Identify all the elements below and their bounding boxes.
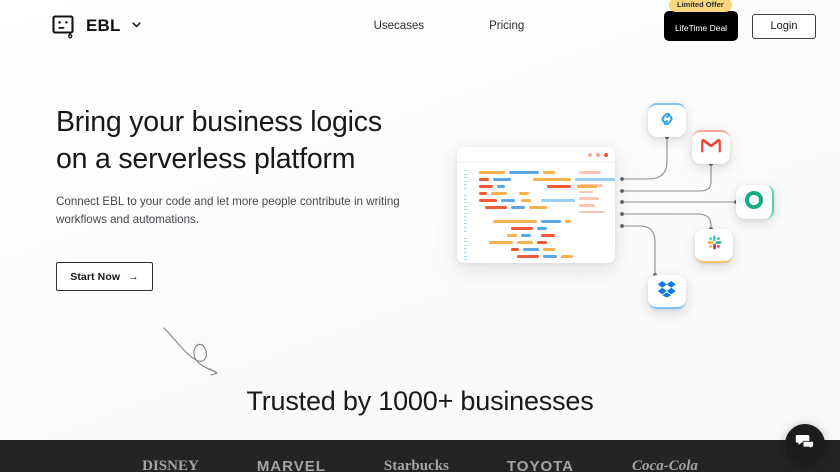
code-line-bar: [511, 248, 519, 251]
code-line-bar: [521, 199, 531, 202]
hero-subtitle: Connect EBL to your code and let more pe…: [56, 193, 406, 229]
code-line-bar: [541, 199, 575, 202]
gutter-tick: [464, 216, 467, 217]
side-panel-bar: [579, 171, 601, 174]
shazam-icon: [657, 109, 677, 134]
code-line-bar: [491, 192, 507, 195]
hero-section: Bring your business logics on a serverle…: [56, 104, 456, 291]
code-line-bar: [497, 185, 505, 188]
page-title: Bring your business logics on a serverle…: [56, 104, 456, 178]
gutter-tick: [464, 231, 467, 232]
green-ring-icon: [744, 190, 764, 215]
main-navigation: Usecases Pricing: [364, 14, 535, 38]
gutter-tick: [464, 209, 467, 210]
start-now-label: Start Now: [70, 271, 120, 283]
code-line-bar: [577, 185, 597, 188]
code-line-bar: [485, 206, 507, 209]
client-logo: Coca-Cola: [632, 458, 698, 472]
integration-dropbox[interactable]: [648, 275, 686, 309]
chevron-down-icon[interactable]: [131, 18, 142, 34]
gutter-tick: [464, 191, 467, 192]
code-line-bar: [479, 171, 505, 174]
code-line-bar: [501, 199, 515, 202]
window-dot-2: [596, 153, 600, 157]
gutter-tick: [464, 227, 467, 228]
gutter-tick: [464, 195, 467, 196]
code-line-bar: [519, 192, 529, 195]
brand-name: EBL: [86, 16, 121, 36]
start-now-button[interactable]: Start Now →: [56, 262, 153, 291]
social-proof-heading: Trusted by 1000+ businesses: [0, 386, 840, 417]
gutter-tick: [464, 220, 467, 221]
lifetime-deal-button[interactable]: LifeTime Deal: [664, 11, 738, 41]
side-panel-bar: [579, 197, 599, 200]
code-line-bar: [511, 206, 525, 209]
code-line-bar: [517, 255, 539, 258]
gutter-tick: [464, 177, 467, 178]
code-line-bar: [493, 178, 511, 181]
code-line-bar: [561, 255, 573, 258]
arrow-right-icon: →: [128, 271, 139, 283]
code-line-bar: [537, 241, 547, 244]
window-dot-1: [588, 153, 592, 157]
gutter-tick: [464, 252, 467, 253]
gutter-tick: [464, 256, 467, 257]
code-lines-area: [471, 169, 575, 263]
code-line-bar: [575, 178, 615, 181]
code-line-bar: [489, 241, 513, 244]
chat-widget-button[interactable]: [785, 424, 825, 464]
code-line-bar: [565, 220, 571, 223]
code-line-bar: [509, 171, 539, 174]
code-line-bar: [541, 220, 561, 223]
code-line-bar: [479, 185, 493, 188]
code-line-bar: [543, 171, 555, 174]
gutter-tick: [464, 238, 467, 239]
line-number-gutter: [464, 169, 467, 263]
gutter-tick: [464, 202, 467, 203]
code-line-bar: [479, 199, 497, 202]
limited-offer-badge: Limited Offer: [669, 0, 732, 12]
slack-icon: [705, 233, 724, 257]
gutter-tick: [464, 206, 467, 207]
side-panel-bar: [579, 191, 593, 194]
gmail-icon: [701, 138, 721, 159]
client-logo: Starbucks: [384, 458, 449, 472]
decorative-arrow-doodle: [160, 322, 226, 378]
code-line-bar: [547, 185, 571, 188]
client-logo: DISNEY: [142, 458, 199, 472]
code-line-bar: [533, 178, 571, 181]
dropbox-icon: [657, 280, 677, 303]
integration-slack[interactable]: [695, 229, 733, 263]
gutter-tick: [464, 188, 467, 189]
code-line-bar: [479, 178, 489, 181]
nav-item-pricing[interactable]: Pricing: [479, 14, 534, 38]
gutter-tick: [464, 248, 467, 249]
gutter-tick: [464, 181, 467, 182]
mockup-titlebar: [457, 147, 615, 163]
side-panel-bar: [579, 211, 605, 214]
code-line-bar: [521, 234, 531, 237]
side-panel-bar: [579, 204, 595, 207]
code-line-bar: [543, 248, 555, 251]
nav-item-usecases[interactable]: Usecases: [364, 14, 435, 38]
gutter-tick: [464, 223, 467, 224]
robot-face-icon: [52, 14, 77, 39]
client-logo: MARVEL: [257, 458, 326, 472]
brand-logo[interactable]: EBL: [52, 14, 142, 39]
code-line-bar: [507, 234, 517, 237]
hero-title-line-1: Bring your business logics: [56, 106, 382, 138]
code-line-bar: [541, 234, 555, 237]
gutter-tick: [464, 259, 467, 260]
integration-green-ring[interactable]: [736, 185, 774, 219]
code-line-bar: [543, 255, 557, 258]
mockup-body: [457, 163, 615, 263]
chat-bubbles-icon: [795, 433, 815, 456]
code-line-bar: [493, 220, 537, 223]
header-actions: Limited Offer LifeTime Deal Login: [664, 11, 816, 41]
code-line-bar: [523, 248, 539, 251]
client-logo: TOYOTA: [507, 458, 574, 472]
code-line-bar: [537, 227, 547, 230]
integrations-diagram: [614, 92, 840, 330]
code-line-bar: [517, 241, 533, 244]
gutter-tick: [464, 241, 467, 242]
gutter-tick: [464, 170, 467, 171]
code-editor-mockup: [457, 147, 615, 263]
window-dot-3: [604, 153, 608, 157]
site-header: EBL Usecases Pricing Limited Offer LifeT…: [0, 0, 840, 52]
gutter-tick: [464, 213, 467, 214]
code-line-bar: [529, 206, 547, 209]
code-line-bar: [511, 227, 533, 230]
integration-shazam[interactable]: [648, 103, 686, 137]
integration-gmail[interactable]: [692, 130, 730, 164]
gutter-tick: [464, 174, 467, 175]
mockup-side-panel: [579, 169, 609, 263]
gutter-tick: [464, 184, 467, 185]
client-logo-row: DISNEYMARVELStarbucksTOYOTACoca-Cola: [0, 458, 840, 472]
hero-title-line-2: on a serverless platform: [56, 143, 355, 175]
client-logos-band: DISNEYMARVELStarbucksTOYOTACoca-Cola: [0, 440, 840, 472]
code-line-bar: [479, 192, 487, 195]
gutter-tick: [464, 234, 467, 235]
lifetime-deal-wrapper: Limited Offer LifeTime Deal: [664, 11, 738, 41]
login-button[interactable]: Login: [752, 14, 816, 39]
gutter-tick: [464, 245, 467, 246]
gutter-tick: [464, 199, 467, 200]
landing-page: EBL Usecases Pricing Limited Offer LifeT…: [0, 0, 840, 472]
